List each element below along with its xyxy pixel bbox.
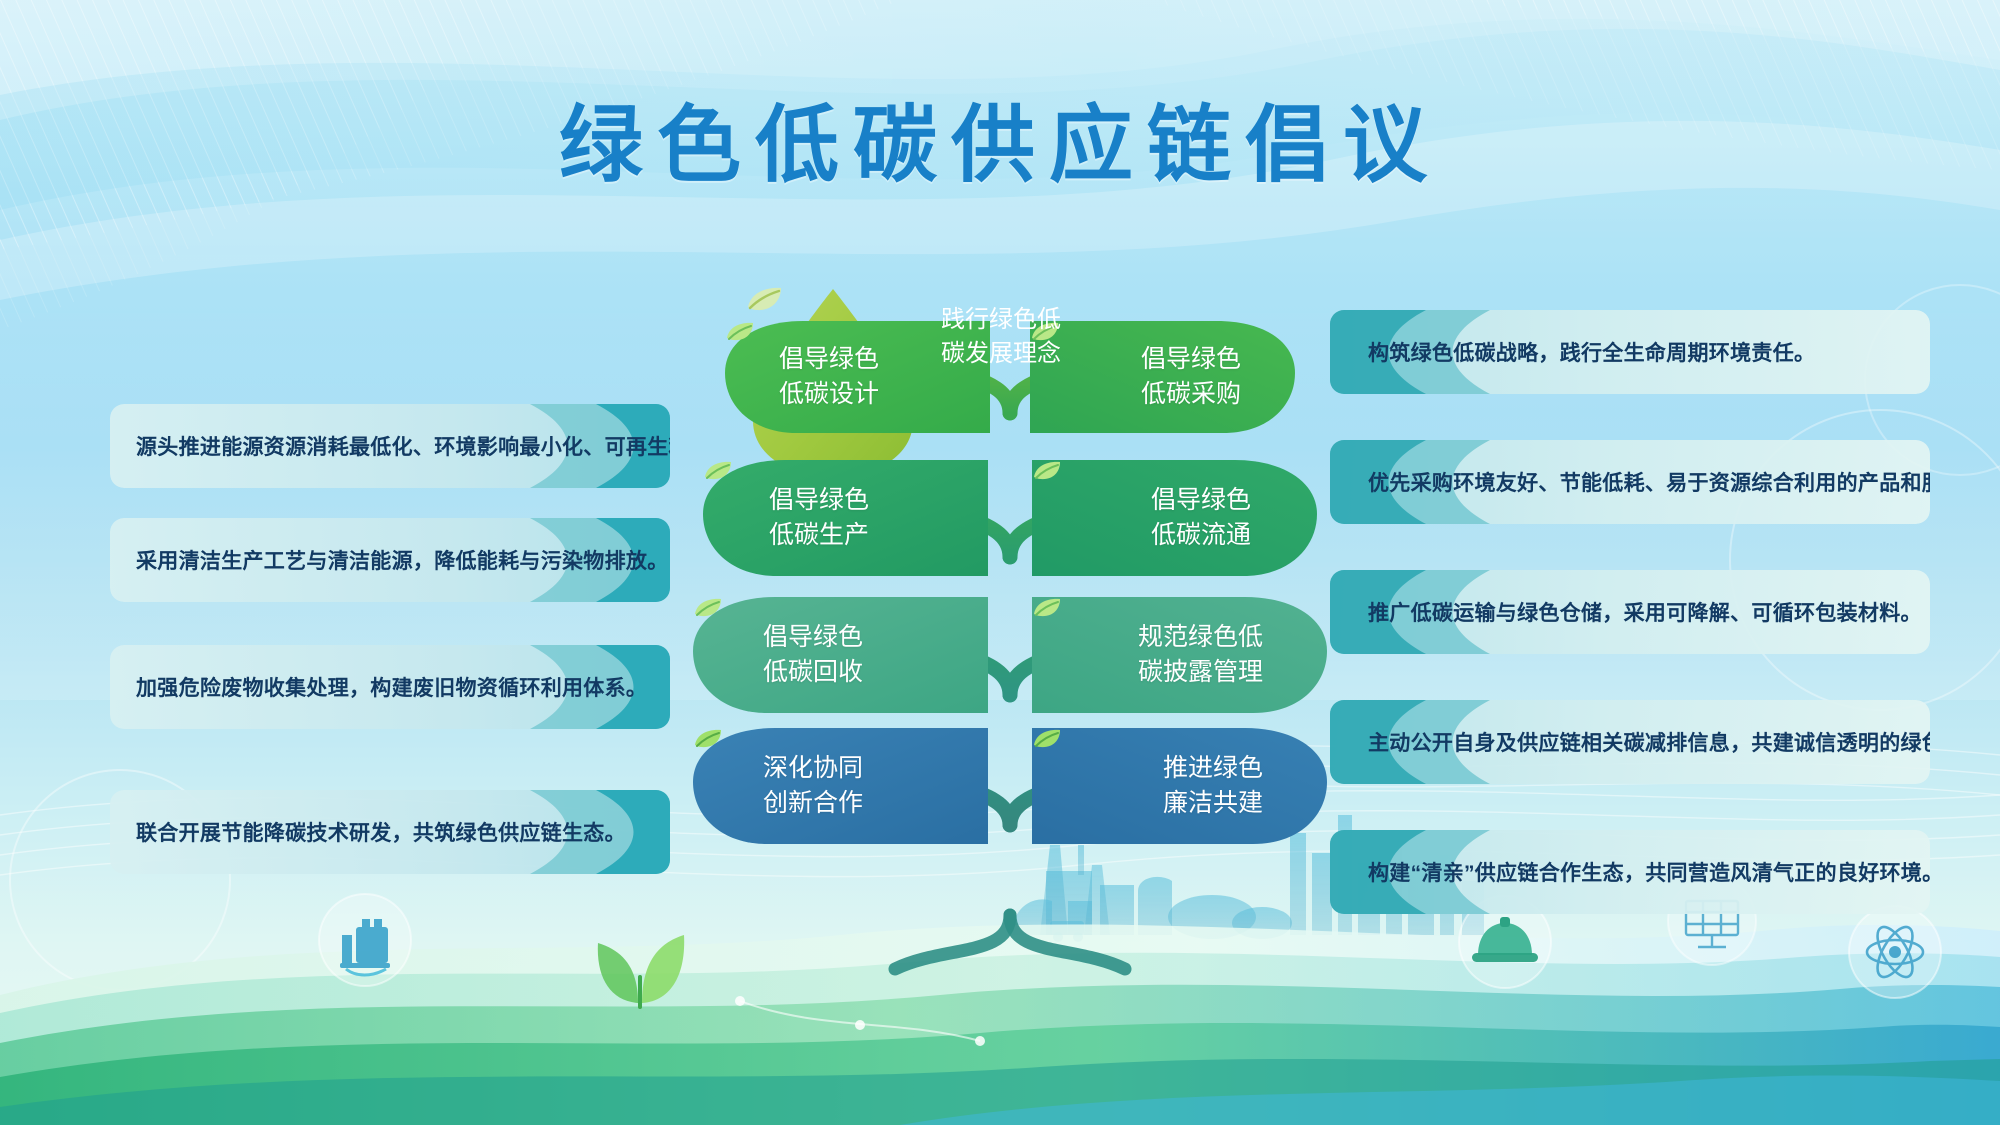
leaf-right-disclosure-line1: 规范绿色低 bbox=[1138, 623, 1263, 651]
leaf-left-production-label: 倡导绿色 低碳生产 bbox=[769, 483, 869, 554]
leaf-right-procurement-label: 倡导绿色 低碳采购 bbox=[1141, 342, 1241, 413]
panel-right-2-text: 优先采购环境友好、节能低耗、易于资源综合利用的产品和服务。 bbox=[1330, 467, 1930, 497]
panel-left-4-text: 联合开展节能降碳技术研发，共筑绿色供应链生态。 bbox=[110, 817, 626, 847]
leaf-left-innovation-label: 深化协同 创新合作 bbox=[763, 751, 863, 822]
leaf-sprout-icon bbox=[580, 907, 700, 1017]
leaf-right-integrity-line1: 推进绿色 bbox=[1163, 754, 1263, 782]
leaf-left-recycling-line2: 低碳回收 bbox=[763, 658, 863, 686]
leaf-left-design-line1: 倡导绿色 bbox=[779, 345, 879, 373]
leaf-right-disclosure-line2: 碳披露管理 bbox=[1138, 658, 1263, 686]
leaf-left-recycling-label: 倡导绿色 低碳回收 bbox=[763, 620, 863, 691]
crown-leaf-label: 践行绿色低 碳发展理念 bbox=[913, 303, 1089, 371]
leaf-left-recycling-line1: 倡导绿色 bbox=[763, 623, 863, 651]
panel-left-4[interactable]: 联合开展节能降碳技术研发，共筑绿色供应链生态。 bbox=[110, 790, 670, 874]
panel-left-3-text: 加强危险废物收集处理，构建废旧物资循环利用体系。 bbox=[110, 672, 647, 702]
panel-right-5[interactable]: 构建“清亲”供应链合作生态，共同营造风清气正的良好环境。 bbox=[1330, 830, 1930, 914]
panel-right-4-text: 主动公开自身及供应链相关碳减排信息，共建诚信透明的绿色低碳生态。 bbox=[1330, 727, 1930, 757]
leaf-right-disclosure[interactable]: 规范绿色低 碳披露管理 bbox=[1032, 597, 1327, 713]
panel-left-1[interactable]: 源头推进能源资源消耗最低化、环境影响最小化、可再生利用最大化。 bbox=[110, 404, 670, 488]
panel-left-3[interactable]: 加强危险废物收集处理，构建废旧物资循环利用体系。 bbox=[110, 645, 670, 729]
panel-right-3[interactable]: 推广低碳运输与绿色仓储，采用可降解、可循环包装材料。 bbox=[1330, 570, 1930, 654]
leaf-left-innovation[interactable]: 深化协同 创新合作 bbox=[693, 728, 988, 844]
panel-right-1[interactable]: 构筑绿色低碳战略，践行全生命周期环境责任。 bbox=[1330, 310, 1930, 394]
panel-left-2-text: 采用清洁生产工艺与清洁能源，降低能耗与污染物排放。 bbox=[110, 545, 669, 575]
leaf-right-distribution-label: 倡导绿色 低碳流通 bbox=[1151, 483, 1251, 554]
leaf-right-disclosure-label: 规范绿色低 碳披露管理 bbox=[1138, 620, 1263, 691]
leaf-right-integrity-label: 推进绿色 廉洁共建 bbox=[1163, 751, 1263, 822]
panel-right-4[interactable]: 主动公开自身及供应链相关碳减排信息，共建诚信透明的绿色低碳生态。 bbox=[1330, 700, 1930, 784]
leaf-right-distribution-line1: 倡导绿色 bbox=[1151, 486, 1251, 514]
panel-right-5-text: 构建“清亲”供应链合作生态，共同营造风清气正的良好环境。 bbox=[1330, 857, 1930, 887]
leaf-icon bbox=[745, 285, 785, 313]
crown-leaf-line2: 碳发展理念 bbox=[913, 337, 1089, 371]
poster-root: 绿色低碳供应链倡议 源头推进能源资源消耗最低化、环境影响最小化、可再生利用最大化… bbox=[0, 0, 2000, 1125]
leaf-left-recycling[interactable]: 倡导绿色 低碳回收 bbox=[693, 597, 988, 713]
page-title: 绿色低碳供应链倡议 bbox=[559, 78, 1441, 199]
leaf-left-production-line1: 倡导绿色 bbox=[769, 486, 869, 514]
panel-left-1-text: 源头推进能源资源消耗最低化、环境影响最小化、可再生利用最大化。 bbox=[110, 431, 670, 461]
leaf-right-integrity-line2: 廉洁共建 bbox=[1163, 789, 1263, 817]
leaf-right-distribution[interactable]: 倡导绿色 低碳流通 bbox=[1032, 460, 1317, 576]
factory-icon bbox=[310, 885, 420, 995]
leaf-left-design-line2: 低碳设计 bbox=[779, 380, 879, 408]
panel-right-1-text: 构筑绿色低碳战略，践行全生命周期环境责任。 bbox=[1330, 337, 1815, 367]
leaf-right-procurement-line2: 低碳采购 bbox=[1141, 380, 1241, 408]
crown-leaf-line1: 践行绿色低 bbox=[913, 303, 1089, 337]
panel-right-3-text: 推广低碳运输与绿色仓储，采用可降解、可循环包装材料。 bbox=[1330, 597, 1922, 627]
leaf-right-procurement-line1: 倡导绿色 bbox=[1141, 345, 1241, 373]
panel-right-2[interactable]: 优先采购环境友好、节能低耗、易于资源综合利用的产品和服务。 bbox=[1330, 440, 1930, 524]
leaf-right-integrity[interactable]: 推进绿色 廉洁共建 bbox=[1032, 728, 1327, 844]
leaf-right-distribution-line2: 低碳流通 bbox=[1151, 521, 1251, 549]
leaf-left-design-label: 倡导绿色 低碳设计 bbox=[779, 342, 879, 413]
tree-diagram: 践行绿色低 碳发展理念 倡导绿色 低碳设计 bbox=[745, 285, 1275, 985]
leaf-left-production[interactable]: 倡导绿色 低碳生产 bbox=[703, 460, 988, 576]
page-title-wrap: 绿色低碳供应链倡议 bbox=[0, 78, 2000, 199]
leaf-left-innovation-line1: 深化协同 bbox=[763, 754, 863, 782]
panel-left-2[interactable]: 采用清洁生产工艺与清洁能源，降低能耗与污染物排放。 bbox=[110, 518, 670, 602]
leaf-left-innovation-line2: 创新合作 bbox=[763, 789, 863, 817]
leaf-left-production-line2: 低碳生产 bbox=[769, 521, 869, 549]
